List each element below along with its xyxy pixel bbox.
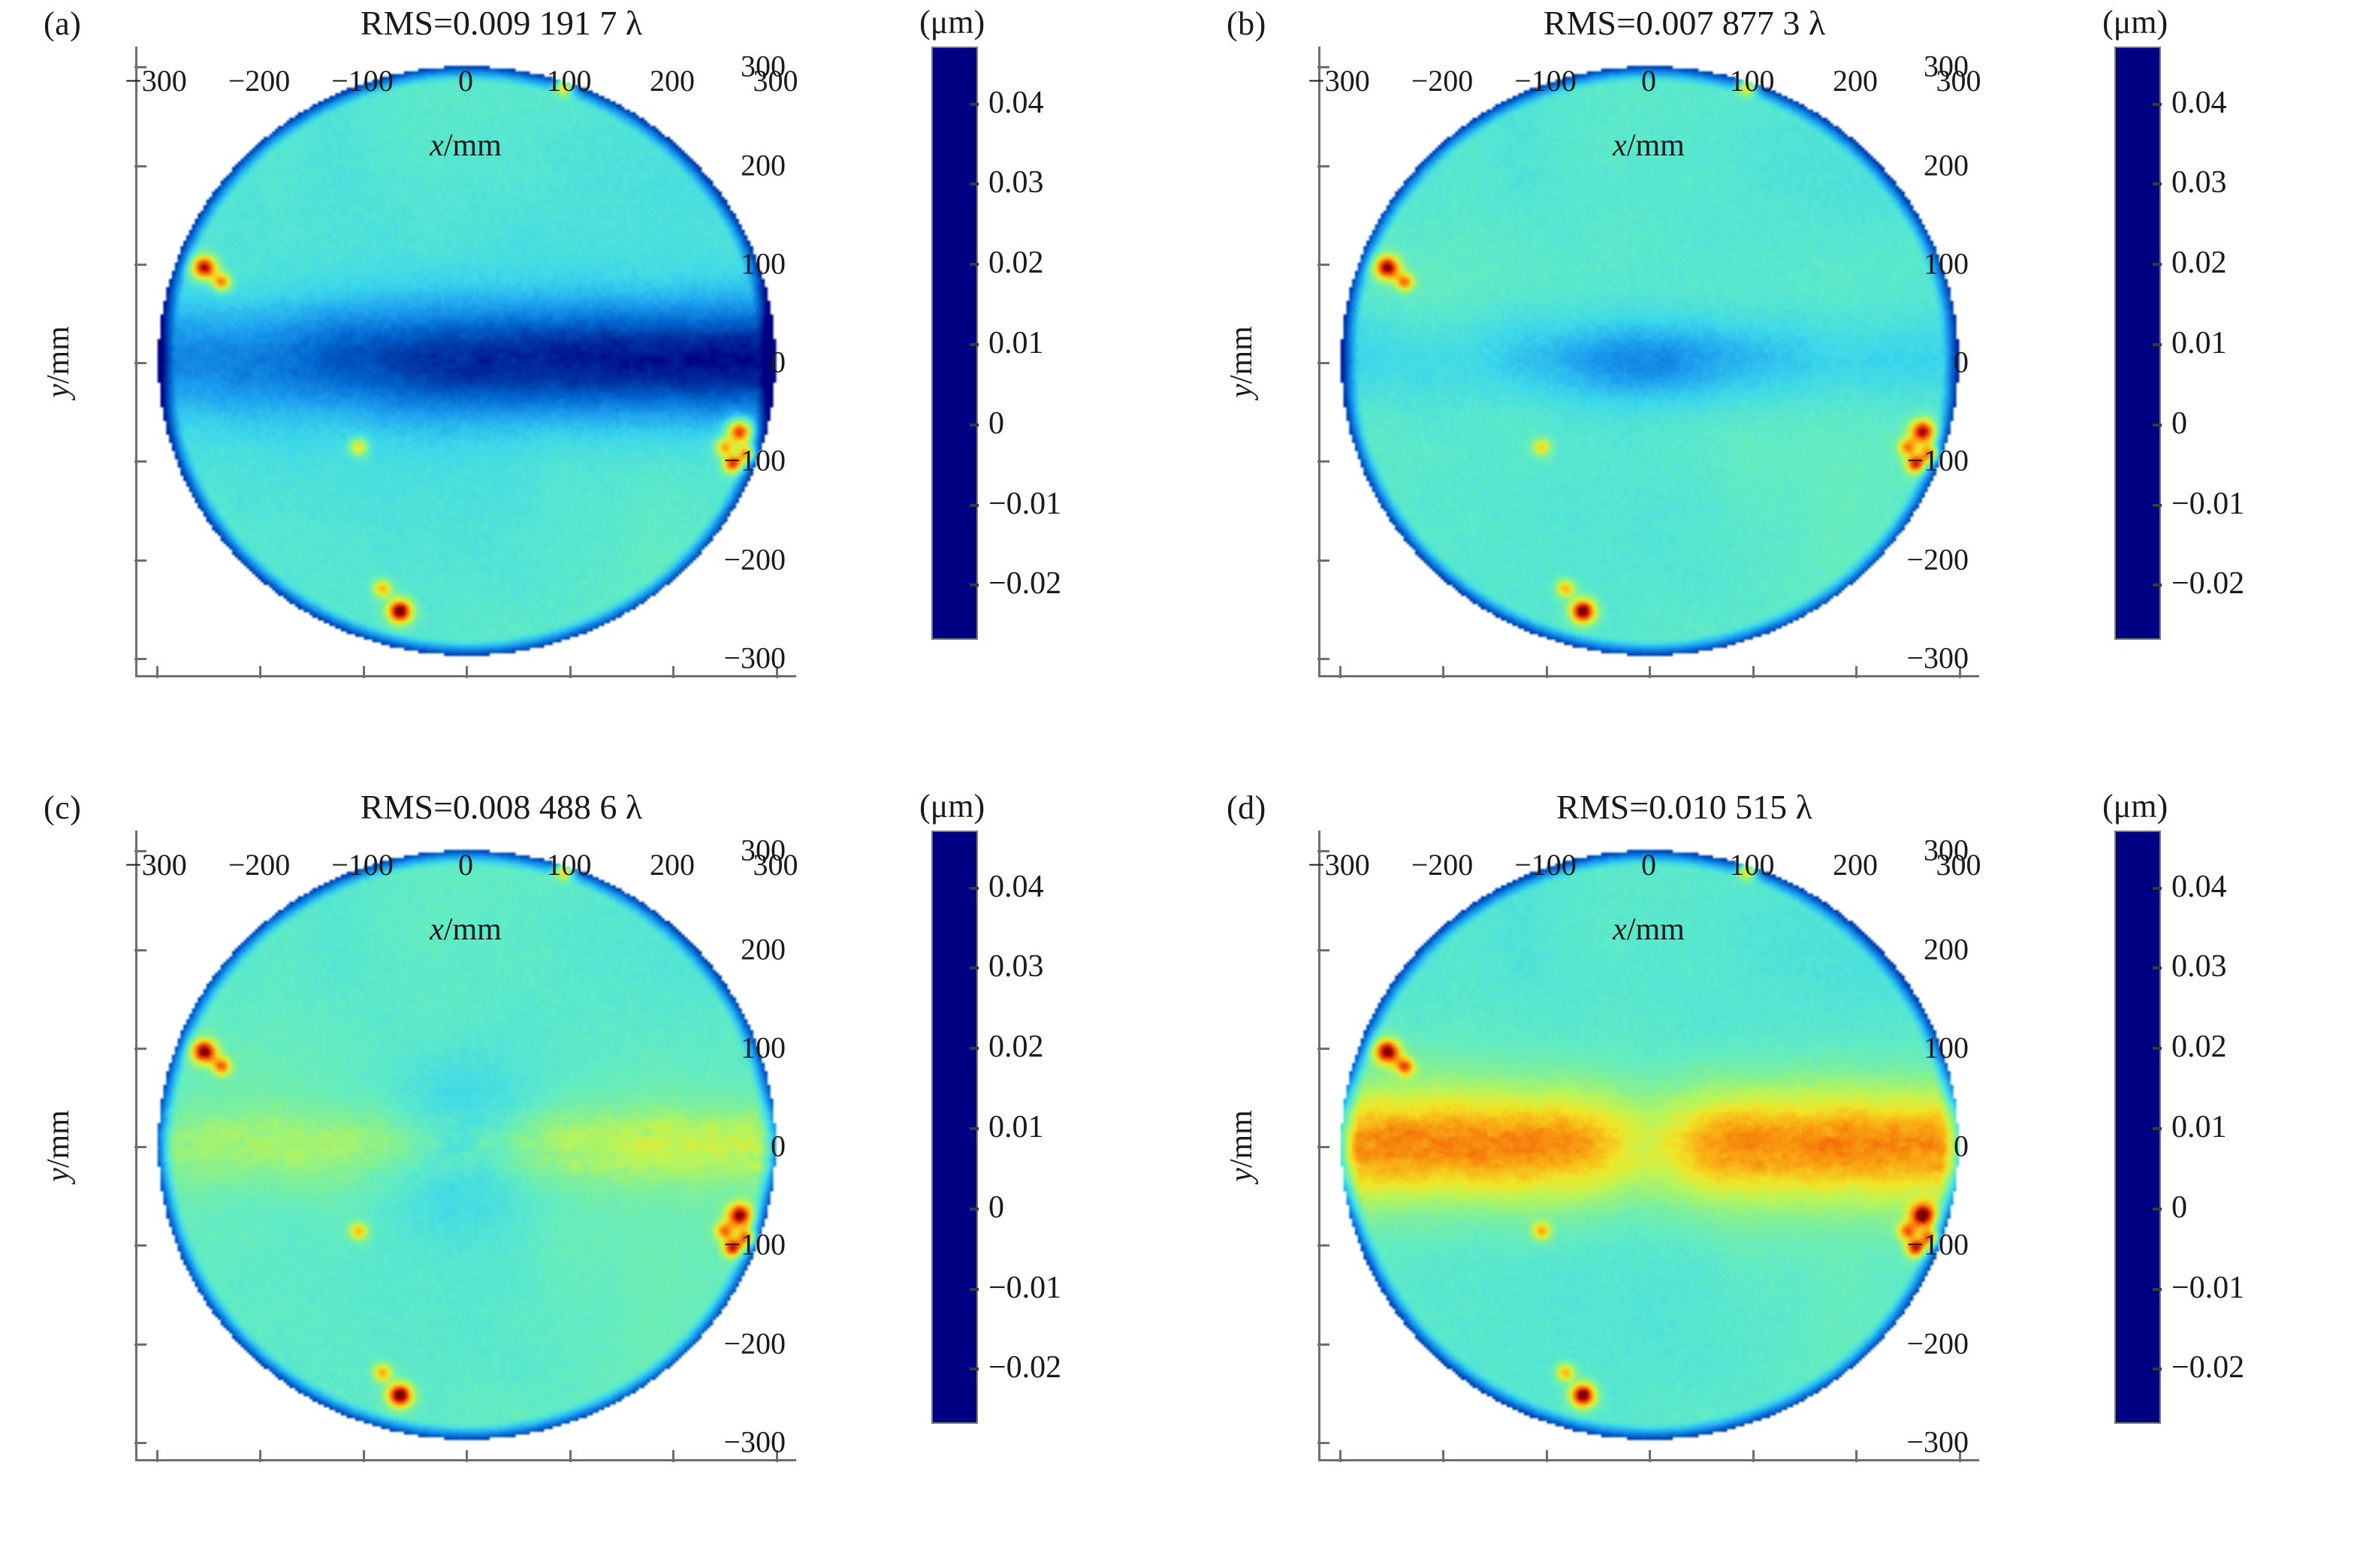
x-axis-label: x/mm <box>1318 128 1979 164</box>
colorbar-tick-label: 0.03 <box>2171 948 2227 985</box>
colorbar-tick <box>970 966 979 969</box>
colorbar-tick <box>2153 583 2162 586</box>
figure-panel-grid: (a) RMS=0.009 191 7 λ x/mm y/mm −300−200… <box>0 0 2366 1568</box>
y-tick <box>1317 949 1329 951</box>
colorbar-tick-label: −0.01 <box>2171 1270 2244 1306</box>
panel-title: RMS=0.008 488 6 λ <box>0 787 1183 827</box>
x-axis-label: x/mm <box>135 912 796 948</box>
colorbar-tick-label: −0.01 <box>2171 486 2244 522</box>
x-axis-label: x/mm <box>135 128 796 164</box>
y-tick-label: −100 <box>723 443 786 478</box>
panel-d: (d) RMS=0.010 515 λ x/mm y/mm −300−200−1… <box>1183 784 2366 1568</box>
y-tick <box>134 362 146 364</box>
colorbar-tick <box>970 343 979 346</box>
y-tick-label: −200 <box>723 1325 786 1361</box>
y-axis-label: y/mm <box>1224 1110 1260 1182</box>
colorbar-unit-label: (μm) <box>919 3 985 41</box>
colorbar-tick-label: 0.01 <box>988 325 1044 361</box>
y-tick <box>1317 658 1329 660</box>
colorbar-tick <box>2153 1288 2162 1291</box>
y-tick-label: −300 <box>1906 640 1969 675</box>
y-axis-label: y/mm <box>1224 326 1260 398</box>
colorbar-tick <box>2153 343 2162 346</box>
y-tick <box>1317 460 1329 463</box>
colorbar-tick <box>2153 103 2162 106</box>
y-tick-label: 100 <box>1924 246 1969 281</box>
colorbar-tick <box>2153 263 2162 266</box>
y-tick-label: 300 <box>741 49 786 84</box>
colorbar-tick <box>2153 1208 2162 1211</box>
colorbar-tick <box>970 887 979 890</box>
y-tick <box>134 1343 146 1346</box>
colorbar-tick <box>970 424 979 427</box>
x-tick <box>1546 1450 1548 1462</box>
colorbar-tick <box>970 583 979 586</box>
colorbar-unit-label: (μm) <box>2102 3 2168 41</box>
colorbar-a: (μm) 0.040.030.020.010−0.01−0.02 <box>931 47 978 640</box>
panel-title: RMS=0.009 191 7 λ <box>0 3 1183 43</box>
colorbar-unit-label: (μm) <box>2102 787 2168 825</box>
y-tick-label: −100 <box>1906 443 1969 478</box>
y-tick-label: 200 <box>1924 931 1969 966</box>
colorbar-tick <box>970 1288 979 1291</box>
panel-a: (a) RMS=0.009 191 7 λ x/mm y/mm −300−200… <box>0 0 1183 784</box>
y-tick <box>134 1244 146 1247</box>
panel-c: (c) RMS=0.008 488 6 λ x/mm y/mm −300−200… <box>0 784 1183 1568</box>
colorbar-tick <box>2153 1127 2162 1130</box>
colorbar-b: (μm) 0.040.030.020.010−0.01−0.02 <box>2114 47 2161 640</box>
colorbar-tick-label: −0.02 <box>2171 565 2244 602</box>
y-tick-label: 200 <box>741 931 786 966</box>
x-tick <box>363 1450 365 1462</box>
colorbar-tick <box>970 263 979 266</box>
colorbar-tick-label: 0.01 <box>2171 1109 2227 1145</box>
y-tick-label: −200 <box>1906 1325 1969 1361</box>
colorbar-tick <box>2153 504 2162 507</box>
colorbar-tick-label: 0 <box>988 1190 1004 1226</box>
x-tick-label: 0 <box>1641 847 1656 882</box>
y-tick-label: 300 <box>1924 49 1969 84</box>
x-tick <box>672 666 674 678</box>
panel-b: (b) RMS=0.007 877 3 λ x/mm y/mm −300−200… <box>1183 0 2366 784</box>
colorbar-tick <box>970 504 979 507</box>
x-tick <box>1649 1450 1651 1462</box>
x-tick <box>569 1450 572 1462</box>
colorbar-tick-label: 0.04 <box>988 869 1044 905</box>
y-tick-label: −200 <box>1906 541 1969 577</box>
y-tick <box>134 165 146 167</box>
panel-title-text: RMS=0.008 488 6 λ <box>361 788 642 826</box>
x-tick-label: −300 <box>1308 63 1370 98</box>
y-tick <box>1317 1343 1329 1346</box>
y-tick <box>1317 362 1329 364</box>
x-tick-label: 200 <box>1833 847 1878 882</box>
colorbar-unit-label: (μm) <box>919 787 985 825</box>
y-tick-label: 200 <box>1924 147 1969 182</box>
colorbar-tick <box>2153 182 2162 185</box>
y-tick-label: 300 <box>1924 833 1969 868</box>
x-tick-label: −300 <box>1308 847 1370 882</box>
x-tick <box>466 666 468 678</box>
x-tick <box>1752 1450 1755 1462</box>
y-tick-label: 300 <box>741 833 786 868</box>
colorbar-tick-label: −0.02 <box>988 1349 1061 1386</box>
colorbar-tick-label: 0.04 <box>988 85 1044 121</box>
y-tick-label: 200 <box>741 147 786 182</box>
x-tick <box>466 1450 468 1462</box>
y-tick <box>134 949 146 951</box>
colorbar-tick-label: 0.02 <box>988 245 1044 281</box>
y-tick-label: 100 <box>1924 1030 1969 1065</box>
colorbar-tick-label: 0 <box>2171 1190 2187 1226</box>
colorbar-tick <box>970 103 979 106</box>
colorbar-tick <box>2153 1367 2162 1370</box>
x-tick-label: 100 <box>547 63 592 98</box>
y-tick <box>1317 1048 1329 1050</box>
x-tick-label: −100 <box>1514 847 1577 882</box>
y-tick-label: −300 <box>1906 1424 1969 1459</box>
y-axis-label: y/mm <box>41 326 77 398</box>
x-tick-label: 200 <box>1833 63 1878 98</box>
y-tick-label: −300 <box>723 640 786 675</box>
x-tick-label: −200 <box>228 63 291 98</box>
panel-title-text: RMS=0.010 515 λ <box>1556 788 1812 826</box>
x-tick-label: −100 <box>331 63 394 98</box>
colorbar-tick <box>2153 1047 2162 1050</box>
x-tick <box>156 666 158 678</box>
colorbar-tick <box>2153 887 2162 890</box>
x-tick <box>1752 666 1755 678</box>
x-tick <box>363 666 365 678</box>
y-tick-label: 0 <box>771 345 786 380</box>
y-tick-label: 0 <box>1954 1129 1969 1164</box>
colorbar-tick-label: 0 <box>988 406 1004 442</box>
plot-area: x/mm y/mm −300−200−100010020030030020010… <box>135 831 796 1461</box>
x-tick-label: −300 <box>125 63 187 98</box>
y-tick <box>1317 559 1329 562</box>
y-tick <box>1317 1244 1329 1247</box>
y-tick <box>134 559 146 562</box>
plot-area: x/mm y/mm −300−200−100010020030030020010… <box>1318 47 1979 677</box>
x-tick-label: 0 <box>458 847 473 882</box>
colorbar-tick-label: 0.03 <box>988 948 1044 985</box>
colorbar-c: (μm) 0.040.030.020.010−0.01−0.02 <box>931 831 978 1424</box>
x-tick-label: 200 <box>650 847 695 882</box>
colorbar-tick-label: 0.03 <box>988 164 1044 201</box>
y-axis-label: y/mm <box>41 1110 77 1182</box>
plot-area: x/mm y/mm −300−200−100010020030030020010… <box>1318 831 1979 1461</box>
colorbar-tick-label: 0.03 <box>2171 164 2227 201</box>
y-tick-label: 0 <box>1954 345 1969 380</box>
colorbar-tick <box>970 1208 979 1211</box>
y-tick <box>134 1146 146 1148</box>
x-tick <box>569 666 572 678</box>
colorbar-tick-label: 0.01 <box>2171 325 2227 361</box>
colorbar-tick-label: −0.01 <box>988 1270 1061 1306</box>
x-tick-label: 100 <box>1730 63 1775 98</box>
x-tick <box>259 666 261 678</box>
plot-area: x/mm y/mm −300−200−100010020030030020010… <box>135 47 796 677</box>
x-axis-label: x/mm <box>1318 912 1979 948</box>
y-tick <box>134 264 146 266</box>
colorbar-tick <box>970 1367 979 1370</box>
y-tick <box>1317 165 1329 167</box>
y-tick-label: −300 <box>723 1424 786 1459</box>
x-tick <box>1442 666 1444 678</box>
y-tick-label: −100 <box>723 1227 786 1262</box>
x-tick <box>259 1450 261 1462</box>
x-tick <box>1855 666 1857 678</box>
colorbar-d: (μm) 0.040.030.020.010−0.01−0.02 <box>2114 831 2161 1424</box>
y-tick <box>134 1048 146 1050</box>
y-tick <box>134 460 146 463</box>
x-tick <box>672 1450 674 1462</box>
x-tick-label: 100 <box>1730 847 1775 882</box>
x-tick-label: 200 <box>650 63 695 98</box>
x-tick <box>1649 666 1651 678</box>
x-tick <box>1855 1450 1857 1462</box>
panel-title-text: RMS=0.007 877 3 λ <box>1544 4 1825 42</box>
x-tick <box>1339 1450 1341 1462</box>
colorbar-tick-label: 0.02 <box>2171 245 2227 281</box>
x-tick <box>1442 1450 1444 1462</box>
x-tick-label: −100 <box>1514 63 1577 98</box>
x-tick-label: 0 <box>458 63 473 98</box>
colorbar-tick <box>2153 966 2162 969</box>
colorbar-tick-label: 0.02 <box>988 1029 1044 1065</box>
colorbar-tick-label: 0.02 <box>2171 1029 2227 1065</box>
y-tick <box>1317 1146 1329 1148</box>
x-tick <box>1339 666 1341 678</box>
panel-title-text: RMS=0.009 191 7 λ <box>361 4 642 42</box>
y-tick <box>1317 264 1329 266</box>
x-tick-label: −300 <box>125 847 187 882</box>
colorbar-tick-label: −0.02 <box>2171 1349 2244 1386</box>
x-tick-label: 100 <box>547 847 592 882</box>
y-tick-label: −100 <box>1906 1227 1969 1262</box>
y-tick <box>1317 1442 1329 1444</box>
y-tick-label: 0 <box>771 1129 786 1164</box>
y-tick <box>134 658 146 660</box>
panel-title: RMS=0.010 515 λ <box>1183 787 2366 827</box>
x-tick-label: 0 <box>1641 63 1656 98</box>
x-tick <box>156 1450 158 1462</box>
colorbar-tick-label: 0.04 <box>2171 85 2227 121</box>
x-tick <box>1546 666 1548 678</box>
y-tick-label: −200 <box>723 541 786 577</box>
y-tick-label: 100 <box>741 246 786 281</box>
y-tick-label: 100 <box>741 1030 786 1065</box>
x-tick-label: −200 <box>1411 63 1474 98</box>
x-tick-label: −200 <box>228 847 291 882</box>
x-tick-label: −200 <box>1411 847 1474 882</box>
colorbar-tick-label: 0 <box>2171 406 2187 442</box>
colorbar-tick-label: −0.01 <box>988 486 1061 522</box>
panel-title: RMS=0.007 877 3 λ <box>1183 3 2366 43</box>
colorbar-tick-label: 0.04 <box>2171 869 2227 905</box>
colorbar-tick <box>970 1047 979 1050</box>
colorbar-tick <box>970 182 979 185</box>
colorbar-tick <box>970 1127 979 1130</box>
colorbar-tick-label: −0.02 <box>988 565 1061 602</box>
x-tick-label: −100 <box>331 847 394 882</box>
colorbar-tick-label: 0.01 <box>988 1109 1044 1145</box>
colorbar-tick <box>2153 424 2162 427</box>
y-tick <box>134 1442 146 1444</box>
